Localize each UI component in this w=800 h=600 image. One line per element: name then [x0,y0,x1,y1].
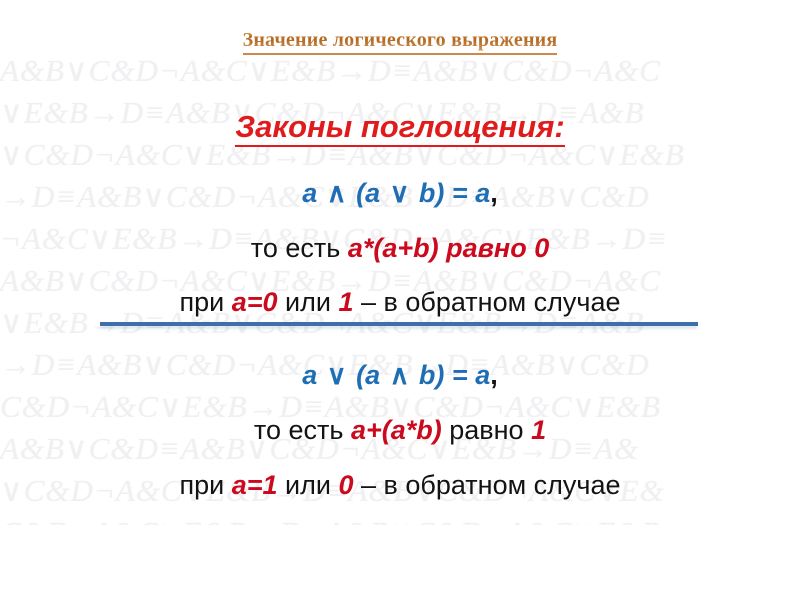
formula-inner-right: b [419,178,436,208]
law-one-condition: при a=0 или 1 – в обратном случае [0,287,800,317]
or-operator-icon: ∨ [388,178,412,208]
formula-open-paren: ( [356,178,365,208]
formula-left-operand: a [302,360,317,390]
formula-close-paren: ) [435,178,444,208]
formula-inner-left: a [365,360,380,390]
slide-content: Законы поглощения: a ∧ (a ∨ b) = a, то е… [0,0,800,600]
law-two-formula: a ∨ (a ∧ b) = a, [0,360,800,390]
explanation-middle: равно [449,415,523,445]
or-operator-icon: ∨ [325,360,349,390]
formula-result: a [475,360,490,390]
and-operator-icon: ∧ [325,178,349,208]
formula-equals: = [452,360,468,390]
condition-suffix: – в обратном случае [361,287,621,317]
formula-open-paren: ( [356,360,365,390]
explanation-prefix: то есть [254,415,344,445]
formula-trailing-comma: , [490,360,498,390]
condition-suffix: – в обратном случае [361,470,621,500]
explanation-expression: a+(a*b) [351,415,442,445]
slide-title-text: Значение логического выражения [243,28,558,55]
slide-canvas: A&B∨C&D¬A&C∨E&B→D≡A&B∨C&D¬A&C ∨E&B→D≡A&B… [0,0,800,600]
slide-title: Значение логического выражения [0,28,800,55]
formula-close-paren: ) [435,360,444,390]
condition-value-a: a=0 [232,287,278,317]
formula-inner-left: a [365,178,380,208]
explanation-value: 1 [531,415,546,445]
explanation-expression: a*(a+b) равно 0 [348,233,549,263]
condition-prefix: при [179,287,224,317]
law-two-condition: при a=1 или 0 – в обратном случае [0,470,800,500]
section-heading: Законы поглощения: [0,110,800,144]
formula-inner-right: b [419,360,436,390]
condition-value-b: 0 [338,470,353,500]
formula-trailing-comma: , [490,178,498,208]
explanation-prefix: то есть [251,233,341,263]
law-one-formula: a ∧ (a ∨ b) = a, [0,178,800,208]
formula-equals: = [452,178,468,208]
law-two-explanation: то есть a+(a*b) равно 1 [0,415,800,445]
formula-result: a [475,178,490,208]
condition-prefix: при [179,470,224,500]
condition-conjunction: или [285,470,331,500]
section-heading-text: Законы поглощения: [235,109,565,147]
law-one-explanation: то есть a*(a+b) равно 0 [0,233,800,263]
and-operator-icon: ∧ [388,360,412,390]
condition-value-a: a=1 [232,470,278,500]
section-divider [100,322,698,326]
condition-conjunction: или [285,287,331,317]
condition-value-b: 1 [338,287,353,317]
formula-left-operand: a [302,178,317,208]
